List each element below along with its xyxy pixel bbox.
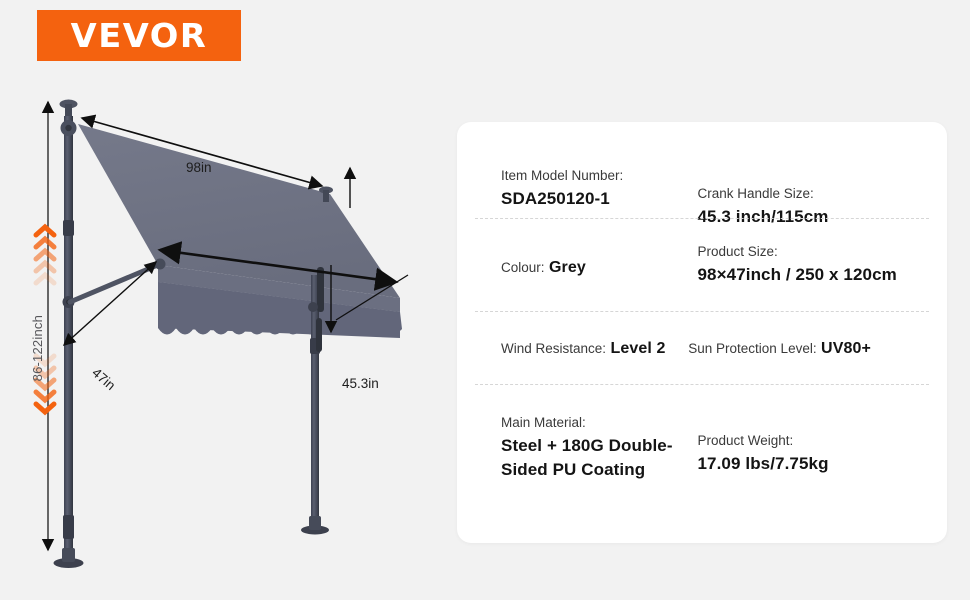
chevron-up-group: [36, 227, 54, 283]
spec-value: UV80+: [821, 340, 871, 357]
diagonal-support-arm: [70, 259, 166, 303]
dimension-label-width: 98in: [186, 160, 212, 175]
spec-label: Item Model Number:: [501, 166, 698, 187]
spec-label: Product Size:: [698, 242, 904, 263]
specification-card: Item Model Number: SDA250120-1 Crank Han…: [457, 122, 947, 543]
dimension-label-height-range: 86-122inch: [30, 315, 45, 381]
spec-value: 17.09 lbs/7.75kg: [698, 452, 904, 476]
spec-label: Product Weight:: [698, 431, 904, 452]
spec-row: Main Material: Steel + 180G Double-Sided…: [457, 384, 947, 543]
spec-item-wind-resistance: Wind Resistance: Level 2: [501, 311, 688, 384]
projection-dimension-line: [64, 262, 156, 345]
spec-item-sun-protection-level: Sun Protection Level: UV80+: [688, 311, 903, 384]
spec-value: Grey: [549, 259, 586, 276]
product-illustration: 98in 47in 45.3in 86-122inch: [0, 60, 460, 600]
spec-item-product-weight: Product Weight: 17.09 lbs/7.75kg: [698, 384, 904, 543]
product-spec-sheet: VEVOR: [0, 0, 970, 600]
spec-value: 98×47inch / 250 x 120cm: [698, 263, 904, 287]
spec-row: Wind Resistance: Level 2 Sun Protection …: [457, 311, 947, 384]
spec-value: Steel + 180G Double-Sided PU Coating: [501, 434, 698, 482]
spec-value: SDA250120-1: [501, 187, 698, 211]
spec-label: Colour:: [501, 260, 545, 275]
spec-row: Colour: Grey Product Size: 98×47inch / 2…: [457, 218, 947, 311]
spec-label: Crank Handle Size:: [698, 184, 904, 205]
spec-item-main-material: Main Material: Steel + 180G Double-Sided…: [501, 384, 698, 543]
spec-item-crank-handle-size: Crank Handle Size: 45.3 inch/115cm: [698, 122, 904, 218]
brand-name: VEVOR: [71, 19, 208, 52]
left-support-pole: [54, 100, 84, 569]
spec-label: Wind Resistance:: [501, 341, 606, 356]
vevor-logo: VEVOR: [37, 10, 241, 61]
spec-item-product-size: Product Size: 98×47inch / 250 x 120cm: [698, 218, 904, 311]
spec-label: Sun Protection Level:: [688, 341, 816, 356]
spec-value: Level 2: [611, 340, 666, 357]
awning-canopy: [78, 124, 402, 338]
dimension-label-crank: 45.3in: [342, 376, 379, 391]
spec-item-colour: Colour: Grey: [501, 218, 698, 311]
spec-label: Main Material:: [501, 413, 698, 434]
spec-row: Item Model Number: SDA250120-1 Crank Han…: [457, 122, 947, 218]
spec-item-model-number: Item Model Number: SDA250120-1: [501, 122, 698, 218]
